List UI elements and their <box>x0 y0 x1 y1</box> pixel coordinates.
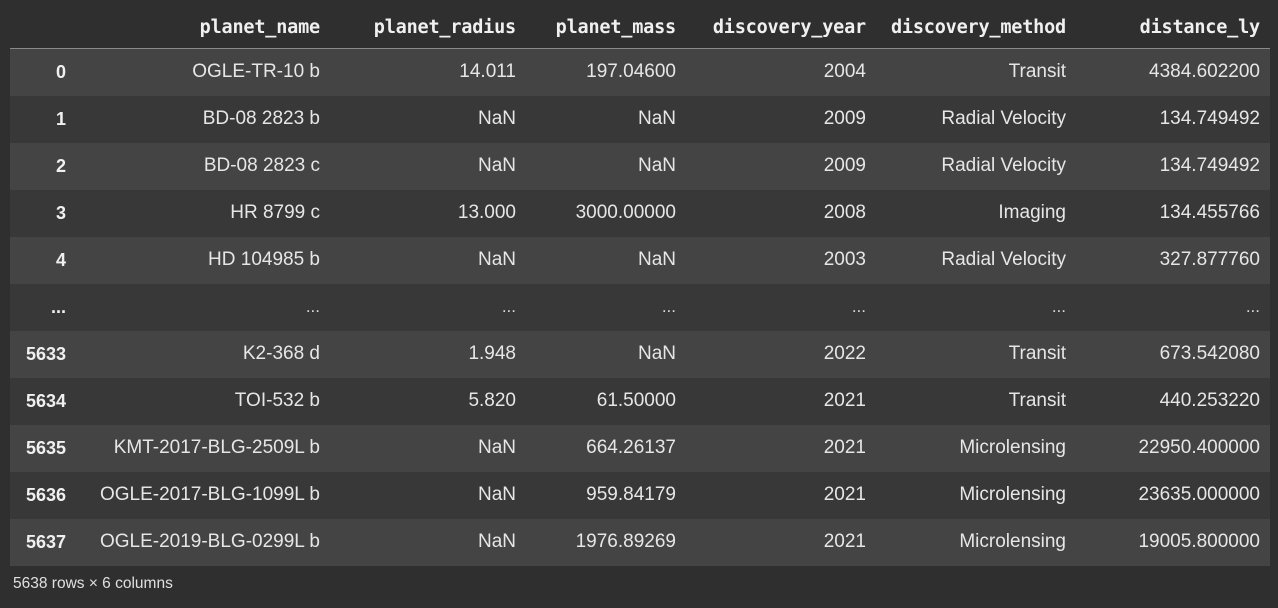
cell-distance-ly: 134.455766 <box>1076 190 1270 237</box>
cell-discovery-year: 2009 <box>686 143 876 190</box>
cell-planet-mass: 664.26137 <box>526 425 686 472</box>
cell-planet-mass: NaN <box>526 237 686 284</box>
cell-discovery-method: ... <box>876 284 1076 331</box>
cell-planet-radius: NaN <box>330 425 526 472</box>
table-row: 3HR 8799 c13.0003000.000002008Imaging134… <box>10 190 1270 237</box>
table-row: 2BD-08 2823 cNaNNaN2009Radial Velocity13… <box>10 143 1270 190</box>
cell-distance-ly: 22950.400000 <box>1076 425 1270 472</box>
cell-planet-name: HR 8799 c <box>78 190 330 237</box>
cell-planet-radius: NaN <box>330 519 526 566</box>
cell-planet-name: BD-08 2823 b <box>78 96 330 143</box>
dataframe-output: planet_name planet_radius planet_mass di… <box>0 0 1278 608</box>
cell-distance-ly: 19005.800000 <box>1076 519 1270 566</box>
cell-planet-name: OGLE-2017-BLG-1099L b <box>78 472 330 519</box>
cell-discovery-year: 2008 <box>686 190 876 237</box>
cell-planet-name: TOI-532 b <box>78 378 330 425</box>
cell-discovery-method: Transit <box>876 331 1076 378</box>
row-index: 3 <box>10 190 78 237</box>
column-header-index <box>10 0 78 49</box>
cell-distance-ly: 4384.602200 <box>1076 49 1270 96</box>
cell-distance-ly: 327.877760 <box>1076 237 1270 284</box>
cell-planet-name: ... <box>78 284 330 331</box>
row-index: 1 <box>10 96 78 143</box>
cell-planet-radius: 13.000 <box>330 190 526 237</box>
cell-planet-name: KMT-2017-BLG-2509L b <box>78 425 330 472</box>
cell-discovery-year: 2021 <box>686 425 876 472</box>
table-row: 5637OGLE-2019-BLG-0299L bNaN1976.8926920… <box>10 519 1270 566</box>
cell-planet-mass: NaN <box>526 96 686 143</box>
column-header-planet-mass: planet_mass <box>526 0 686 49</box>
cell-discovery-year: 2003 <box>686 237 876 284</box>
cell-planet-mass: 3000.00000 <box>526 190 686 237</box>
cell-distance-ly: 134.749492 <box>1076 143 1270 190</box>
cell-distance-ly: 673.542080 <box>1076 331 1270 378</box>
row-index: 2 <box>10 143 78 190</box>
cell-planet-name: K2-368 d <box>78 331 330 378</box>
dataframe-shape-footer: 5638 rows × 6 columns <box>10 566 1270 593</box>
cell-discovery-method: Imaging <box>876 190 1076 237</box>
cell-planet-mass: 197.04600 <box>526 49 686 96</box>
cell-discovery-year: 2004 <box>686 49 876 96</box>
cell-planet-radius: ... <box>330 284 526 331</box>
cell-planet-mass: NaN <box>526 331 686 378</box>
cell-planet-mass: 1976.89269 <box>526 519 686 566</box>
cell-planet-name: OGLE-2019-BLG-0299L b <box>78 519 330 566</box>
cell-planet-radius: 5.820 <box>330 378 526 425</box>
table-row: 5634TOI-532 b5.82061.500002021Transit440… <box>10 378 1270 425</box>
table-row: 5635KMT-2017-BLG-2509L bNaN664.261372021… <box>10 425 1270 472</box>
table-row: 4HD 104985 bNaNNaN2003Radial Velocity327… <box>10 237 1270 284</box>
column-header-discovery-year: discovery_year <box>686 0 876 49</box>
cell-planet-radius: 14.011 <box>330 49 526 96</box>
table-header: planet_name planet_radius planet_mass di… <box>10 0 1270 49</box>
row-index: 5637 <box>10 519 78 566</box>
row-index: ... <box>10 284 78 331</box>
cell-planet-radius: NaN <box>330 96 526 143</box>
cell-planet-mass: 61.50000 <box>526 378 686 425</box>
cell-discovery-year: 2009 <box>686 96 876 143</box>
cell-discovery-method: Radial Velocity <box>876 96 1076 143</box>
cell-discovery-year: 2021 <box>686 519 876 566</box>
cell-discovery-year: 2021 <box>686 472 876 519</box>
dataframe-table: planet_name planet_radius planet_mass di… <box>10 0 1270 566</box>
table-row: 1BD-08 2823 bNaNNaN2009Radial Velocity13… <box>10 96 1270 143</box>
cell-planet-mass: ... <box>526 284 686 331</box>
header-row: planet_name planet_radius planet_mass di… <box>10 0 1270 49</box>
table-row: 5633K2-368 d1.948NaN2022Transit673.54208… <box>10 331 1270 378</box>
cell-discovery-method: Transit <box>876 378 1076 425</box>
column-header-distance-ly: distance_ly <box>1076 0 1270 49</box>
cell-planet-radius: NaN <box>330 472 526 519</box>
row-index: 5635 <box>10 425 78 472</box>
cell-planet-mass: 959.84179 <box>526 472 686 519</box>
row-index: 5634 <box>10 378 78 425</box>
table-body: 0OGLE-TR-10 b14.011197.046002004Transit4… <box>10 49 1270 566</box>
cell-planet-name: HD 104985 b <box>78 237 330 284</box>
table-row: 5636OGLE-2017-BLG-1099L bNaN959.84179202… <box>10 472 1270 519</box>
table-row: 0OGLE-TR-10 b14.011197.046002004Transit4… <box>10 49 1270 96</box>
column-header-planet-radius: planet_radius <box>330 0 526 49</box>
cell-distance-ly: 440.253220 <box>1076 378 1270 425</box>
column-header-planet-name: planet_name <box>78 0 330 49</box>
column-header-discovery-method: discovery_method <box>876 0 1076 49</box>
table-ellipsis-row: ..................... <box>10 284 1270 331</box>
cell-discovery-method: Microlensing <box>876 519 1076 566</box>
cell-planet-mass: NaN <box>526 143 686 190</box>
cell-planet-radius: NaN <box>330 237 526 284</box>
row-index: 4 <box>10 237 78 284</box>
row-index: 0 <box>10 49 78 96</box>
cell-distance-ly: 23635.000000 <box>1076 472 1270 519</box>
cell-distance-ly: ... <box>1076 284 1270 331</box>
cell-distance-ly: 134.749492 <box>1076 96 1270 143</box>
row-index: 5633 <box>10 331 78 378</box>
cell-discovery-method: Microlensing <box>876 425 1076 472</box>
cell-discovery-method: Transit <box>876 49 1076 96</box>
row-index: 5636 <box>10 472 78 519</box>
cell-discovery-method: Microlensing <box>876 472 1076 519</box>
cell-discovery-method: Radial Velocity <box>876 237 1076 284</box>
cell-planet-name: OGLE-TR-10 b <box>78 49 330 96</box>
cell-discovery-year: ... <box>686 284 876 331</box>
cell-discovery-year: 2021 <box>686 378 876 425</box>
cell-planet-name: BD-08 2823 c <box>78 143 330 190</box>
cell-discovery-year: 2022 <box>686 331 876 378</box>
cell-discovery-method: Radial Velocity <box>876 143 1076 190</box>
cell-planet-radius: 1.948 <box>330 331 526 378</box>
cell-planet-radius: NaN <box>330 143 526 190</box>
